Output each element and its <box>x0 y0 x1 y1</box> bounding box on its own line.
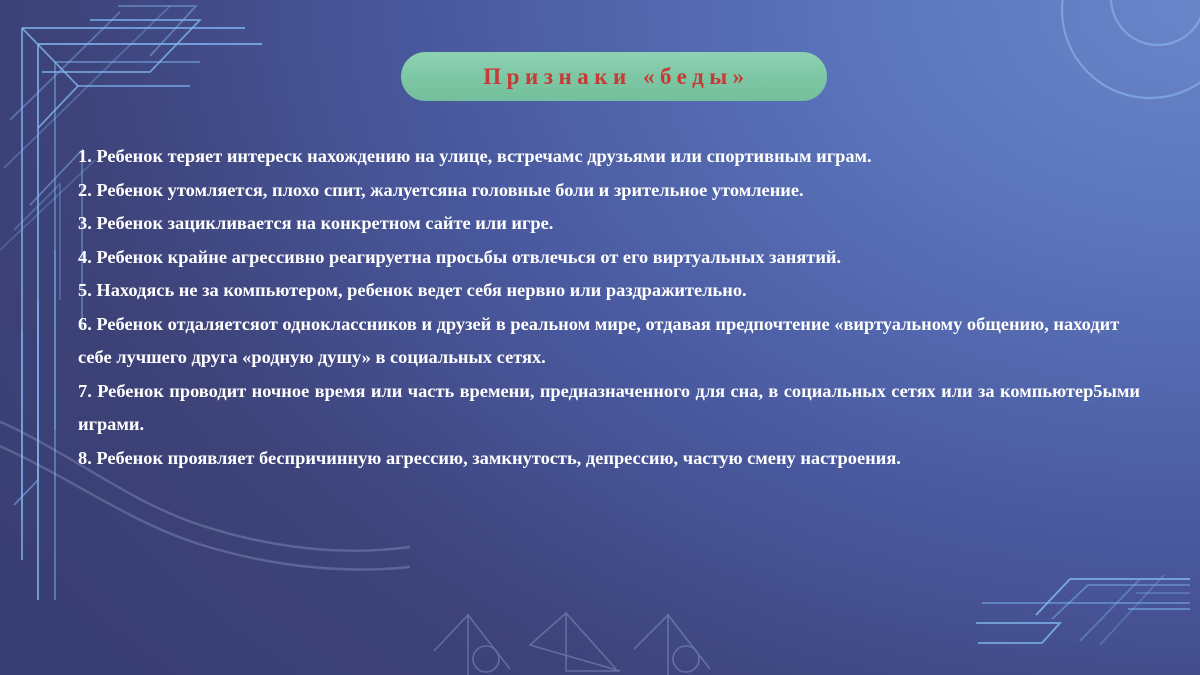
signs-list: 1. Ребенок теряет интереск нахождению на… <box>78 140 1140 475</box>
list-item: 5. Находясь не за компьютером, ребенок в… <box>78 274 1140 308</box>
parallel-lines-decoration-icon <box>940 545 1200 675</box>
presentation-slide: Признаки «беды» 1. Ребенок теряет интере… <box>0 0 1200 675</box>
concentric-circles-decoration-icon <box>1000 0 1200 160</box>
list-item: 2. Ребенок утомляется, плохо спит, жалуе… <box>78 174 1140 208</box>
list-item: 6. Ребенок отдаляетсяот одноклассников и… <box>78 308 1140 375</box>
triangle-shapes-decoration-icon <box>420 595 750 675</box>
list-item: 4. Ребенок крайне агрессивно реагируетна… <box>78 241 1140 275</box>
list-item: 1. Ребенок теряет интереск нахождению на… <box>78 140 1140 174</box>
list-item: 7. Ребенок проводит ночное время или час… <box>78 375 1140 442</box>
slide-title-banner: Признаки «беды» <box>401 52 827 101</box>
page-title: Признаки «беды» <box>478 64 749 90</box>
list-item: 3. Ребенок зацикливается на конкретном с… <box>78 207 1140 241</box>
list-item: 8. Ребенок проявляет беспричинную агресс… <box>78 442 1140 476</box>
